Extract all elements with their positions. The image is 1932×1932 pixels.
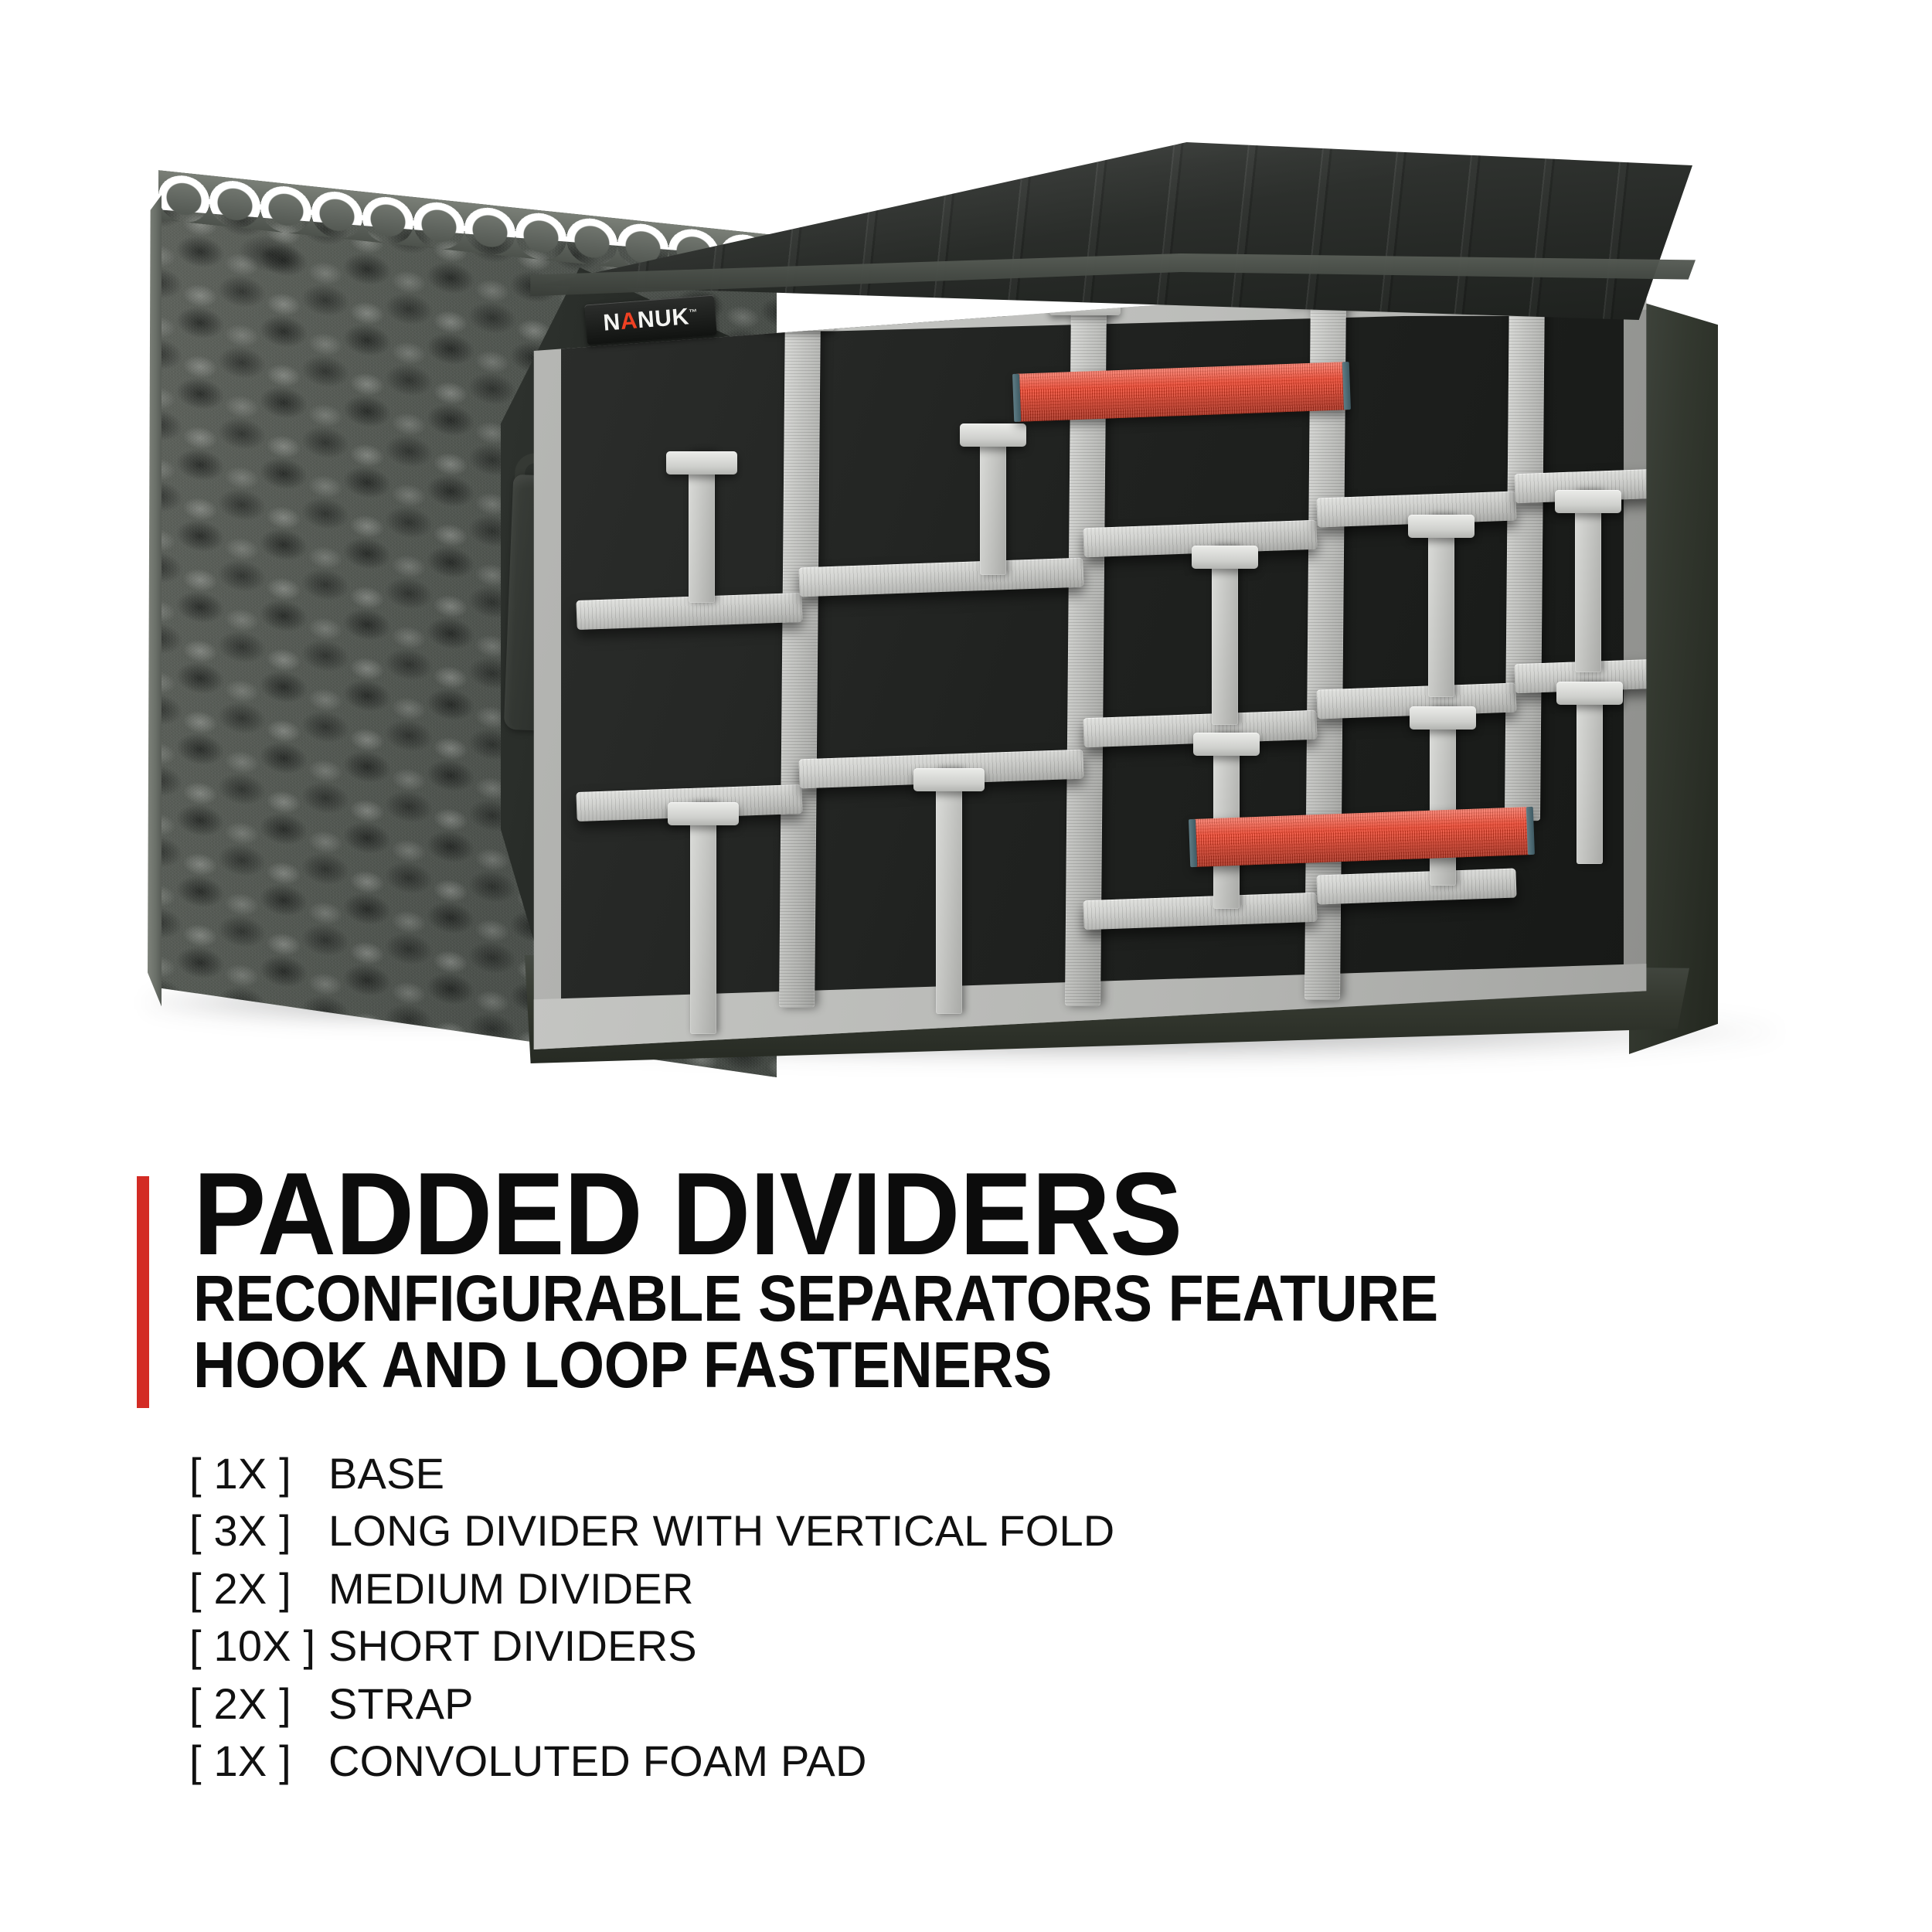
short-divider-t-7 <box>1408 515 1475 697</box>
spec-quantity: [ 3X ] <box>189 1502 328 1560</box>
spec-label: CONVOLUTED FOAM PAD <box>328 1733 867 1790</box>
spec-label: LONG DIVIDER WITH VERTICAL FOLD <box>328 1502 1114 1560</box>
short-divider-t-1 <box>666 451 737 603</box>
long-divider-1 <box>779 312 821 1008</box>
short-divider-t-8-bar <box>1410 706 1476 730</box>
long-divider-1-fold-tab <box>764 304 835 331</box>
product-photo: NANUK™ <box>0 0 1932 1144</box>
short-divider-t-5-bar <box>1192 546 1258 569</box>
short-divider-t-8-stem <box>1430 706 1456 886</box>
short-divider-t-9 <box>1555 490 1621 672</box>
spec-quantity: [ 10X ] <box>189 1617 328 1675</box>
insert-front-opening <box>527 269 1655 1049</box>
short-divider-t-7-stem <box>1428 515 1454 697</box>
list-item: [ 1X ] BASE <box>189 1445 1114 1502</box>
spec-quantity: [ 2X ] <box>189 1675 328 1733</box>
spec-quantity: [ 1X ] <box>189 1733 328 1790</box>
short-divider-t-2-bar <box>668 802 739 825</box>
page-subtitle: RECONFIGURABLE SEPARATORS FEATURE HOOK A… <box>193 1266 1438 1398</box>
spec-quantity: [ 1X ] <box>189 1445 328 1502</box>
short-divider-t-9-bar <box>1555 490 1621 513</box>
short-divider-t-2-stem <box>690 802 716 1034</box>
short-divider-t-3-stem <box>936 768 962 1014</box>
short-divider-t-10 <box>1556 682 1623 864</box>
short-divider-t-10-bar <box>1556 682 1623 705</box>
spec-quantity: [ 2X ] <box>189 1560 328 1617</box>
list-item: [ 2X ] MEDIUM DIVIDER <box>189 1560 1114 1617</box>
short-divider-t-3 <box>913 768 985 1014</box>
nanuk-trademark-icon: ™ <box>689 308 698 318</box>
short-divider-t-5 <box>1192 546 1258 725</box>
nanuk-logo-nuk: NUK <box>637 304 690 333</box>
short-divider-t-1-bar <box>666 451 737 474</box>
spec-label: SHORT DIVIDERS <box>328 1617 697 1675</box>
short-divider-t-3-bar <box>913 768 985 791</box>
short-divider-t-2 <box>668 802 739 1034</box>
short-divider-t-5-stem <box>1212 546 1238 725</box>
short-divider-t-6-bar <box>1193 733 1260 756</box>
nanuk-logo-text: NANUK™ <box>603 304 699 335</box>
nanuk-logo-a: A <box>620 308 639 335</box>
page-title: PADDED DIVIDERS <box>193 1161 1182 1269</box>
list-item: [ 2X ] STRAP <box>189 1675 1114 1733</box>
medium-divider-1 <box>1505 280 1545 821</box>
list-item: [ 3X ] LONG DIVIDER WITH VERTICAL FOLD <box>189 1502 1114 1560</box>
spec-label: MEDIUM DIVIDER <box>328 1560 694 1617</box>
list-item: [ 1X ] CONVOLUTED FOAM PAD <box>189 1733 1114 1790</box>
page-subtitle-line-1: RECONFIGURABLE SEPARATORS FEATURE <box>193 1266 1438 1332</box>
short-divider-t-10-stem <box>1577 682 1603 864</box>
padded-divider-insert: NANUK™ <box>510 182 1777 1048</box>
text-content-block: PADDED DIVIDERS RECONFIGURABLE SEPARATOR… <box>0 1144 1932 1932</box>
red-accent-bar <box>137 1176 149 1408</box>
list-item: [ 10X ] SHORT DIVIDERS <box>189 1617 1114 1675</box>
short-divider-t-9-stem <box>1575 490 1601 672</box>
nanuk-logo-n1: N <box>602 309 621 336</box>
product-infographic: NANUK™ PADDED DIVIDERS RECONFIGURABLE SE… <box>0 0 1932 1932</box>
spec-label: STRAP <box>328 1675 474 1733</box>
foam-left-edge <box>148 194 162 1007</box>
page-subtitle-line-2: HOOK AND LOOP FASTENERS <box>193 1332 1438 1399</box>
short-divider-t-4-bar <box>960 423 1026 447</box>
short-divider-t-4 <box>960 423 1026 575</box>
short-divider-t-7-bar <box>1408 515 1475 538</box>
spec-list: [ 1X ] BASE [ 3X ] LONG DIVIDER WITH VER… <box>189 1445 1114 1791</box>
spec-label: BASE <box>328 1445 444 1502</box>
